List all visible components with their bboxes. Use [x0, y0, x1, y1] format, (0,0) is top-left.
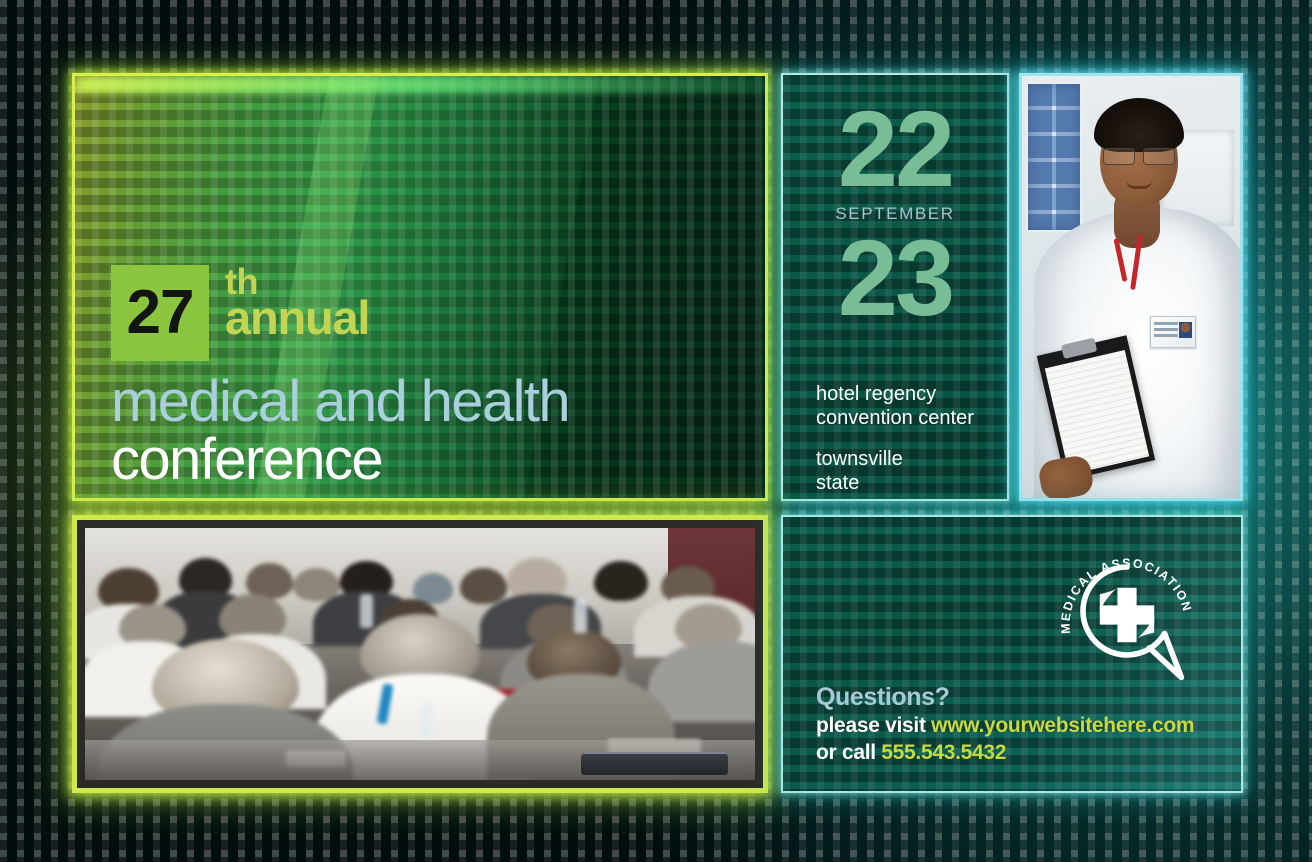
- website-link[interactable]: www.yourwebsitehere.com: [931, 714, 1194, 737]
- title-top-glow: [75, 76, 765, 92]
- call-prefix: or call: [816, 741, 881, 764]
- doctor-photo: [1022, 76, 1240, 498]
- edition-row: 27 th annual: [111, 265, 369, 361]
- phone-number[interactable]: 555.543.5432: [881, 741, 1006, 764]
- title-panel: 27 th annual medical and health conferen…: [72, 73, 768, 501]
- call-line: or call 555.543.5432: [816, 739, 1194, 767]
- audience-photo: [85, 528, 755, 780]
- date-day-first: 22: [783, 99, 1007, 198]
- contact-block: Questions? please visit www.yourwebsiteh…: [816, 683, 1194, 767]
- visit-prefix: please visit: [816, 714, 931, 737]
- edition-word: annual: [225, 298, 369, 338]
- questions-label: Questions?: [816, 683, 1194, 712]
- venue-block: hotel regency convention center townsvil…: [783, 382, 1007, 496]
- xray-lightbox: [1026, 82, 1082, 232]
- date-day-second: 23: [783, 228, 1007, 327]
- conference-poster: 27 th annual medical and health conferen…: [0, 0, 1312, 862]
- audience-photo-panel: [72, 515, 768, 793]
- venue-city: townsville: [816, 447, 1007, 471]
- audience-laptop: [581, 752, 728, 775]
- edition-number-badge: 27: [111, 265, 209, 361]
- visit-line: please visit www.yourwebsitehere.com: [816, 712, 1194, 740]
- contact-panel: MEDICAL ASSOCIATION Questions? please vi…: [781, 515, 1243, 793]
- date-venue-panel: 22 SEPTEMBER 23 hotel regency convention…: [781, 73, 1009, 501]
- edition-label: th annual: [225, 265, 369, 338]
- headline-line-2: conference: [111, 431, 382, 489]
- venue-line-1: hotel regency: [816, 382, 1007, 406]
- headline-line-1: medical and health: [111, 373, 569, 431]
- venue-line-2: convention center: [816, 406, 1007, 430]
- doctor-photo-panel: [1019, 73, 1243, 501]
- doctor-glasses: [1102, 148, 1176, 163]
- date-content: 22 SEPTEMBER 23 hotel regency convention…: [783, 75, 1007, 499]
- medical-cross-speech-bubble-icon: MEDICAL ASSOCIATION: [1047, 543, 1207, 703]
- doctor-id-badge: [1150, 316, 1196, 348]
- venue-state: state: [816, 471, 1007, 495]
